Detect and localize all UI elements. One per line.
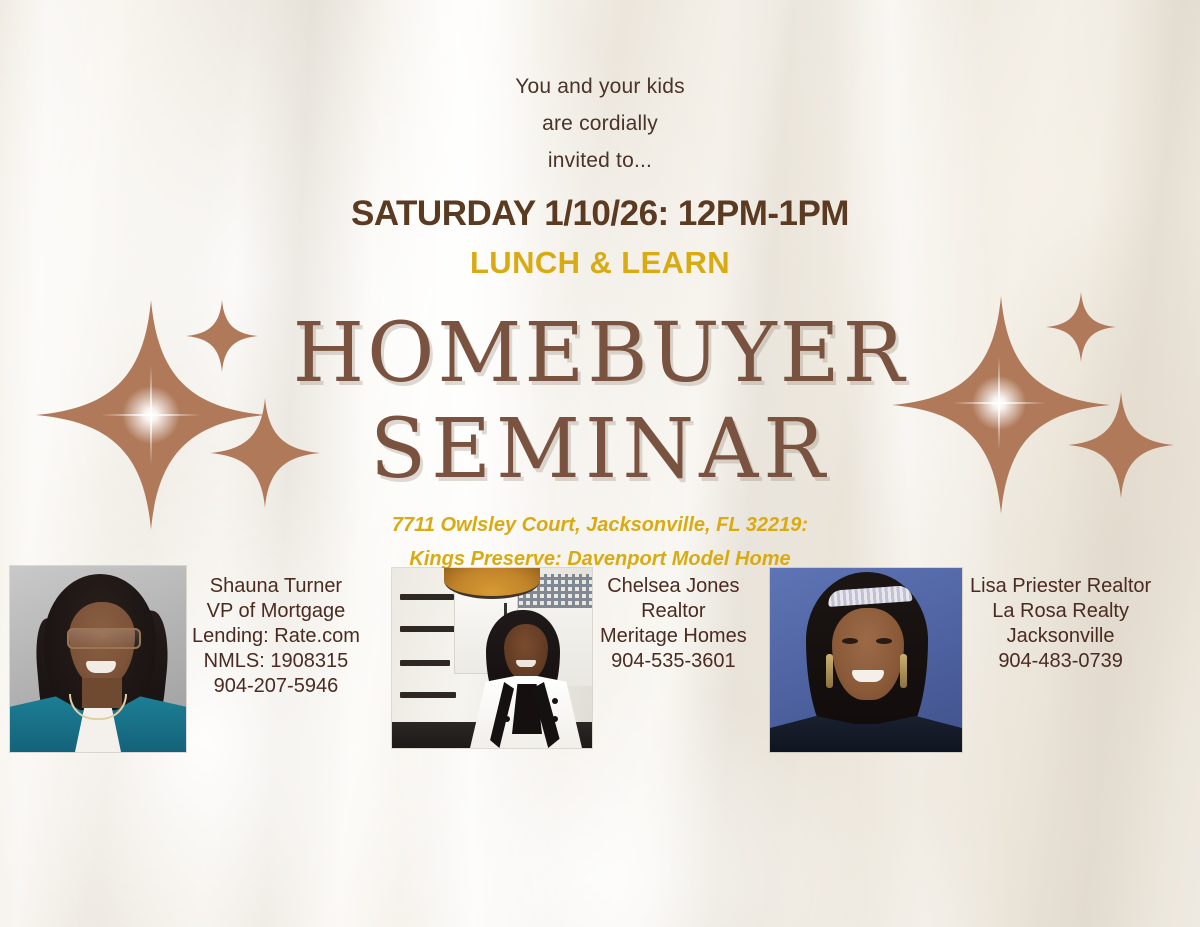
presenter-name: Lisa Priester Realtor — [970, 574, 1151, 599]
presenter-title-line-2: Lending: Rate.com — [192, 624, 360, 649]
presenter-caption-shauna-turner: Shauna Turner VP of Mortgage Lending: Ra… — [192, 574, 360, 699]
invitation-line-1: You and your kids — [0, 68, 1200, 105]
presenter-caption-lisa-priester: Lisa Priester Realtor La Rosa Realty Jac… — [970, 574, 1151, 674]
page-title: HOMEBUYER SEMINAR — [0, 306, 1200, 498]
presenter-chelsea-jones: Chelsea Jones Realtor Meritage Homes 904… — [392, 568, 747, 748]
invitation-text: You and your kids are cordially invited … — [0, 68, 1200, 179]
presenter-title-line-1: Realtor — [600, 599, 747, 624]
presenter-photo-chelsea-jones — [392, 568, 592, 748]
presenter-name: Shauna Turner — [192, 574, 360, 599]
presenter-lisa-priester: Lisa Priester Realtor La Rosa Realty Jac… — [770, 568, 1151, 752]
address-line-1: 7711 Owlsley Court, Jacksonville, FL 322… — [0, 508, 1200, 542]
title-line-2: SEMINAR — [0, 402, 1200, 498]
presenter-caption-chelsea-jones: Chelsea Jones Realtor Meritage Homes 904… — [600, 574, 747, 674]
title-line-1: HOMEBUYER — [0, 306, 1200, 402]
presenter-photo-lisa-priester — [770, 568, 962, 752]
presenter-nmls: NMLS: 1908315 — [192, 649, 360, 674]
presenter-shauna-turner: Shauna Turner VP of Mortgage Lending: Ra… — [10, 566, 360, 752]
invitation-line-3: invited to... — [0, 142, 1200, 179]
presenter-phone: 904-535-3601 — [600, 649, 747, 674]
event-flyer: You and your kids are cordially invited … — [0, 0, 1200, 927]
presenter-phone: 904-483-0739 — [970, 649, 1151, 674]
event-type-label: LUNCH & LEARN — [0, 245, 1200, 281]
presenter-name: Chelsea Jones — [600, 574, 747, 599]
presenter-phone: 904-207-5946 — [192, 674, 360, 699]
presenter-title-line-2: Meritage Homes — [600, 624, 747, 649]
presenter-title-line-1: VP of Mortgage — [192, 599, 360, 624]
presenter-title-line-2: Jacksonville — [970, 624, 1151, 649]
presenter-title-line-1: La Rosa Realty — [970, 599, 1151, 624]
invitation-line-2: are cordially — [0, 105, 1200, 142]
presenter-photo-shauna-turner — [10, 566, 186, 752]
event-date-time: SATURDAY 1/10/26: 12PM-1PM — [0, 194, 1200, 234]
